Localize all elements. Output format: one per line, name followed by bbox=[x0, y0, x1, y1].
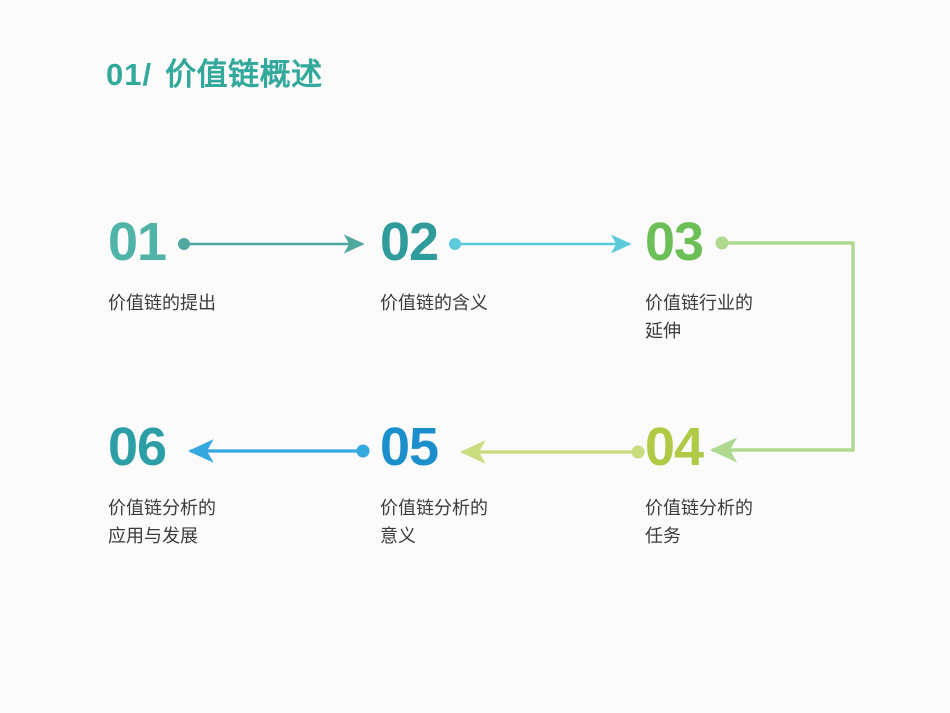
flow-step-02-number: 02 bbox=[380, 215, 630, 269]
flow-step-05-label: 价值链分析的 意义 bbox=[380, 495, 630, 551]
flow-step-03[interactable]: 03 价值链行业的 延伸 bbox=[645, 215, 895, 346]
flow-step-02-label: 价值链的含义 bbox=[380, 290, 630, 318]
slide: 01/价值链概述 bbox=[0, 0, 950, 713]
flow-step-06-label: 价值链分析的 应用与发展 bbox=[108, 495, 358, 551]
flow-step-04[interactable]: 04 价值链分析的 任务 bbox=[645, 420, 895, 551]
flow-step-01-number: 01 bbox=[108, 215, 358, 269]
flow-step-06-number: 06 bbox=[108, 420, 358, 474]
flow-step-04-number: 04 bbox=[645, 420, 895, 474]
flow-step-05-number: 05 bbox=[380, 420, 630, 474]
flow-step-01-label: 价值链的提出 bbox=[108, 290, 358, 318]
flow-step-01[interactable]: 01 价值链的提出 bbox=[108, 215, 358, 318]
flow-step-05[interactable]: 05 价值链分析的 意义 bbox=[380, 420, 630, 551]
flow-step-03-label: 价值链行业的 延伸 bbox=[645, 290, 895, 346]
value-chain-flow-diagram: 01 价值链的提出 02 价值链的含义 03 价值链行业的 延伸 04 价值链分… bbox=[0, 0, 950, 713]
flow-step-02[interactable]: 02 价值链的含义 bbox=[380, 215, 630, 318]
flow-step-04-label: 价值链分析的 任务 bbox=[645, 495, 895, 551]
flow-step-06[interactable]: 06 价值链分析的 应用与发展 bbox=[108, 420, 358, 551]
flow-step-03-number: 03 bbox=[645, 215, 895, 269]
flow-connectors bbox=[0, 0, 950, 713]
